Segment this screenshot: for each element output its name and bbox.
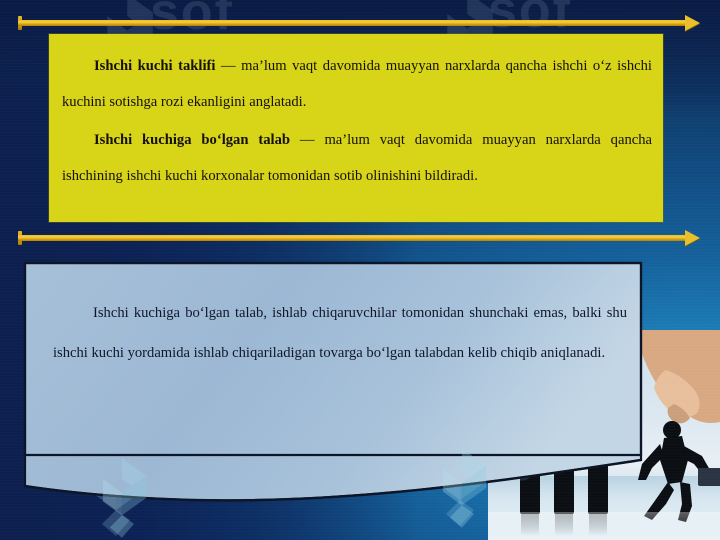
arrow-head-icon	[685, 15, 700, 31]
definition-term-2: Ishchi kuchiga bo‘lgan talab	[94, 132, 290, 148]
arrow-shaft	[18, 235, 686, 241]
explanation-text-block: Ishchi kuchiga bo‘lgan talab, ishlab chi…	[25, 263, 641, 461]
definition-dash-1: —	[215, 58, 241, 74]
arrow-shaft	[18, 20, 686, 26]
definitions-yellow-panel: Ishchi kuchi taklifi — ma’lum vaqt davom…	[49, 34, 663, 222]
definition-term-1: Ishchi kuchi taklifi	[94, 58, 215, 74]
definition-paragraph-1: Ishchi kuchi taklifi — ma’lum vaqt davom…	[62, 48, 652, 120]
arrow-head-icon	[685, 230, 700, 246]
top-arrow	[18, 15, 700, 31]
explanation-paragraph: Ishchi kuchiga bo‘lgan talab, ishlab chi…	[53, 293, 627, 373]
definition-paragraph-2: Ishchi kuchiga bo‘lgan talab — ma’lum va…	[62, 122, 652, 194]
definition-dash-2: —	[290, 132, 324, 148]
slide-canvas: sof sof sof sof Ishchi kuchi taklifi — m…	[0, 0, 720, 540]
explanation-wave-panel: Ishchi kuchiga bo‘lgan talab, ishlab chi…	[0, 246, 720, 540]
middle-arrow	[18, 230, 700, 246]
